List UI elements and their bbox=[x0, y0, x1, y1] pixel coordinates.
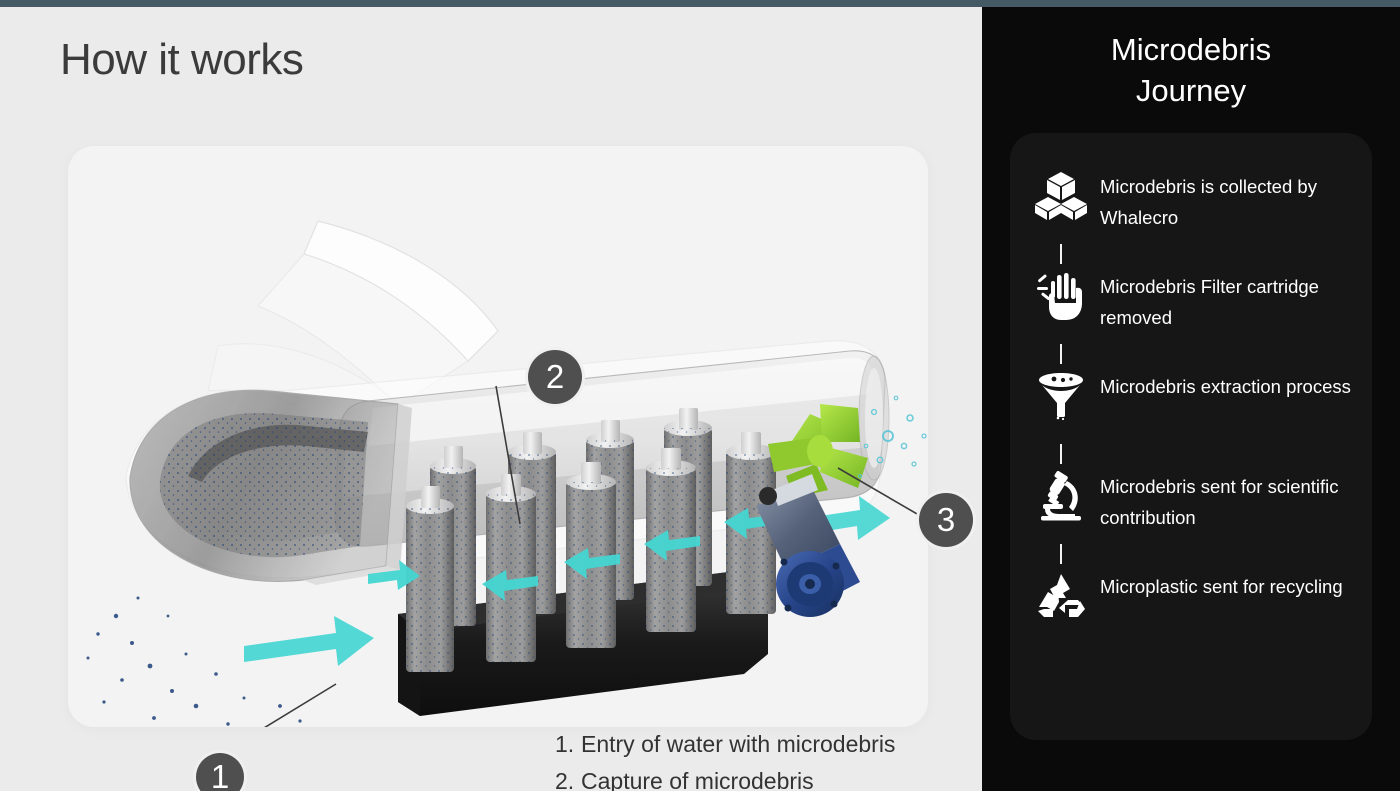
leader-line-1 bbox=[218, 684, 336, 727]
inlet-flow-arrow bbox=[244, 616, 374, 666]
journey-item-extraction[interactable]: Microdebris extraction process bbox=[1010, 367, 1372, 445]
page-title: How it works bbox=[60, 35, 303, 85]
step-text-2: Capture of microdebris bbox=[581, 768, 814, 791]
funnel-icon bbox=[1028, 367, 1094, 421]
journey-title-line-1: Microdebris bbox=[982, 29, 1400, 70]
top-accent-bar bbox=[0, 0, 1400, 7]
journey-connector-4 bbox=[1010, 545, 1372, 567]
journey-label-collected: Microdebris is collected by Whalecro bbox=[1094, 167, 1358, 233]
cubes-icon bbox=[1028, 167, 1094, 221]
recycle-icon bbox=[1028, 567, 1094, 621]
step-item-2: 2.Capture of microdebris bbox=[555, 763, 985, 791]
hand-remove-icon bbox=[1028, 267, 1094, 321]
step-text-1: Entry of water with microdebris bbox=[581, 731, 895, 757]
journey-card: Microdebris is collected by Whalecro bbox=[1010, 133, 1372, 740]
journey-connector-2 bbox=[1010, 345, 1372, 367]
journey-label-cartridge-removed: Microdebris Filter cartridge removed bbox=[1094, 267, 1358, 333]
callout-badge-2[interactable]: 2 bbox=[528, 350, 582, 404]
journey-label-extraction: Microdebris extraction process bbox=[1094, 367, 1351, 402]
step-item-1: 1.Entry of water with microdebris bbox=[555, 726, 985, 763]
journey-title: Microdebris Journey bbox=[982, 29, 1400, 111]
diagram-card: 1 2 3 1.Entry of water with microdebris … bbox=[68, 146, 928, 727]
journey-title-line-2: Journey bbox=[982, 70, 1400, 111]
steps-legend: 1.Entry of water with microdebris 2.Capt… bbox=[555, 726, 985, 791]
microdebris-journey-panel: Microdebris Journey bbox=[982, 7, 1400, 791]
journey-connector-1 bbox=[1010, 245, 1372, 267]
journey-item-recycling[interactable]: Microplastic sent for recycling bbox=[1010, 567, 1372, 645]
journey-connector-3 bbox=[1010, 445, 1372, 467]
filter-device-illustration bbox=[68, 146, 928, 727]
step-number-2: 2. bbox=[555, 763, 581, 791]
journey-list: Microdebris is collected by Whalecro bbox=[1010, 167, 1372, 645]
callout-badge-3[interactable]: 3 bbox=[919, 493, 973, 547]
callout-badge-1[interactable]: 1 bbox=[196, 753, 244, 791]
journey-label-scientific: Microdebris sent for scientific contribu… bbox=[1094, 467, 1358, 533]
microscope-icon bbox=[1028, 467, 1094, 521]
journey-label-recycling: Microplastic sent for recycling bbox=[1094, 567, 1343, 602]
journey-item-scientific[interactable]: Microdebris sent for scientific contribu… bbox=[1010, 467, 1372, 545]
journey-item-collected[interactable]: Microdebris is collected by Whalecro bbox=[1010, 167, 1372, 245]
how-it-works-panel: How it works bbox=[0, 7, 982, 791]
journey-item-cartridge-removed[interactable]: Microdebris Filter cartridge removed bbox=[1010, 267, 1372, 345]
step-number-1: 1. bbox=[555, 726, 581, 763]
